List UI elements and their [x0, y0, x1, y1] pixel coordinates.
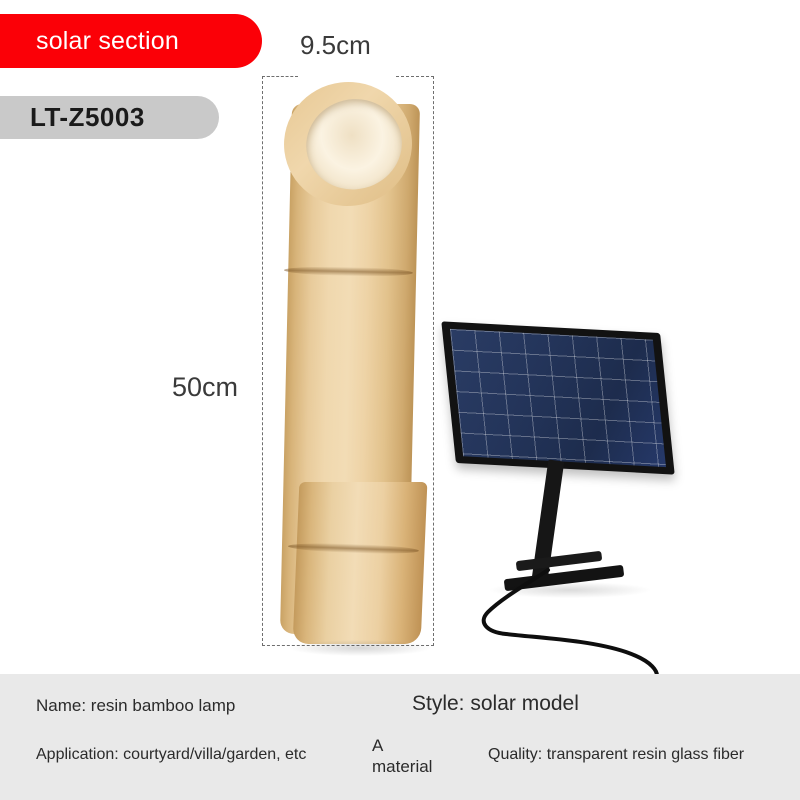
solar-panel-cable	[420, 320, 700, 680]
category-badge-label: solar section	[36, 27, 179, 56]
dimension-top-left-tick	[262, 76, 298, 77]
info-name: Name: resin bamboo lamp	[36, 696, 235, 716]
info-quality: Quality: transparent resin glass fiber	[488, 746, 744, 764]
info-style: Style: solar model	[412, 692, 579, 716]
category-badge: solar section	[0, 14, 262, 68]
bamboo-lamp-product	[278, 82, 430, 642]
lamp-ground-shadow	[290, 640, 430, 656]
info-application: Application: courtyard/villa/garden, etc	[36, 746, 306, 764]
info-material-line2: material	[372, 757, 432, 776]
model-badge: LT-Z5003	[0, 96, 219, 139]
product-image-canvas: solar section LT-Z5003 9.5cm 50cm Name: …	[0, 0, 800, 800]
lamp-top-opening	[297, 89, 412, 200]
info-material: A material	[372, 736, 462, 777]
dimension-box-top-gap	[272, 60, 424, 82]
info-material-line1: A	[372, 736, 383, 755]
model-badge-label: LT-Z5003	[30, 102, 145, 133]
height-dimension-label: 50cm	[172, 372, 238, 403]
lamp-body-lower	[293, 482, 428, 644]
width-dimension-label: 9.5cm	[300, 30, 371, 61]
solar-panel-product	[420, 320, 700, 680]
dimension-top-right-tick	[396, 76, 434, 77]
product-info-panel: Name: resin bamboo lamp Style: solar mod…	[0, 674, 800, 800]
